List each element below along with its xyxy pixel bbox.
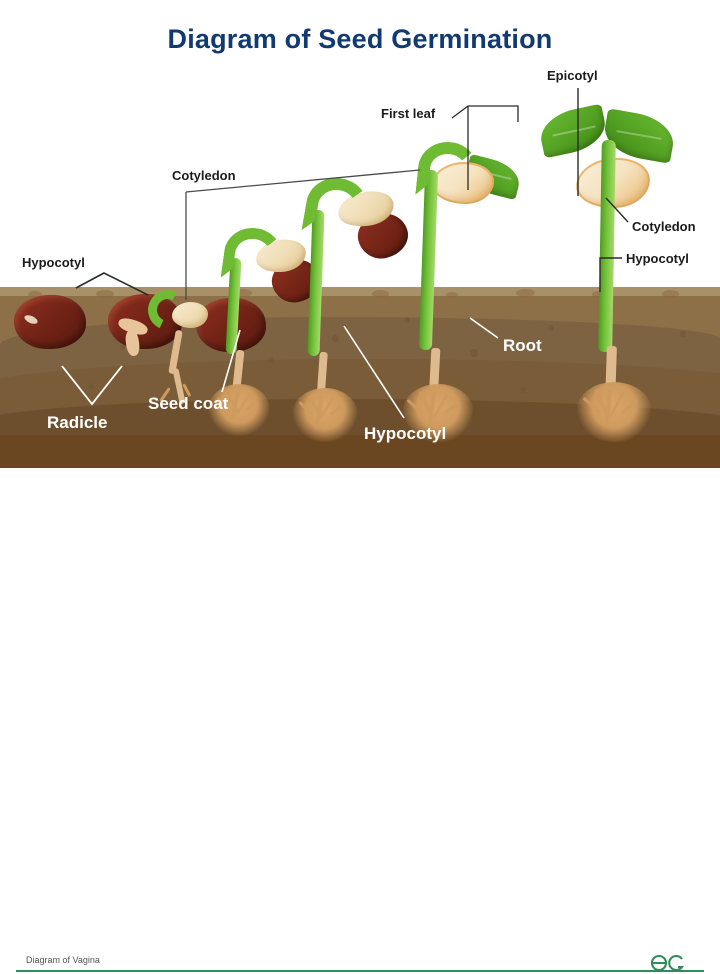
footer-bar: Diagram of Vagina — [0, 468, 720, 513]
label-root: Root — [503, 336, 542, 356]
label-hypocotyl-soil: Hypocotyl — [364, 424, 446, 444]
diagram-canvas: Diagram of Seed Germination — [0, 0, 720, 513]
geeksforgeeks-logo[interactable] — [648, 952, 694, 974]
label-hypocotyl-right: Hypocotyl — [626, 251, 689, 266]
label-epicotyl: Epicotyl — [547, 68, 598, 83]
footer-caption: Diagram of Vagina — [26, 955, 100, 965]
label-first-leaf: First leaf — [381, 106, 435, 121]
label-seed-coat: Seed coat — [148, 394, 228, 414]
leader-lines — [0, 0, 720, 513]
label-cotyledon-left: Cotyledon — [172, 168, 236, 183]
label-hypocotyl-top: Hypocotyl — [22, 255, 85, 270]
footer-divider — [16, 970, 704, 972]
label-cotyledon-right: Cotyledon — [632, 219, 696, 234]
label-radicle: Radicle — [47, 413, 107, 433]
